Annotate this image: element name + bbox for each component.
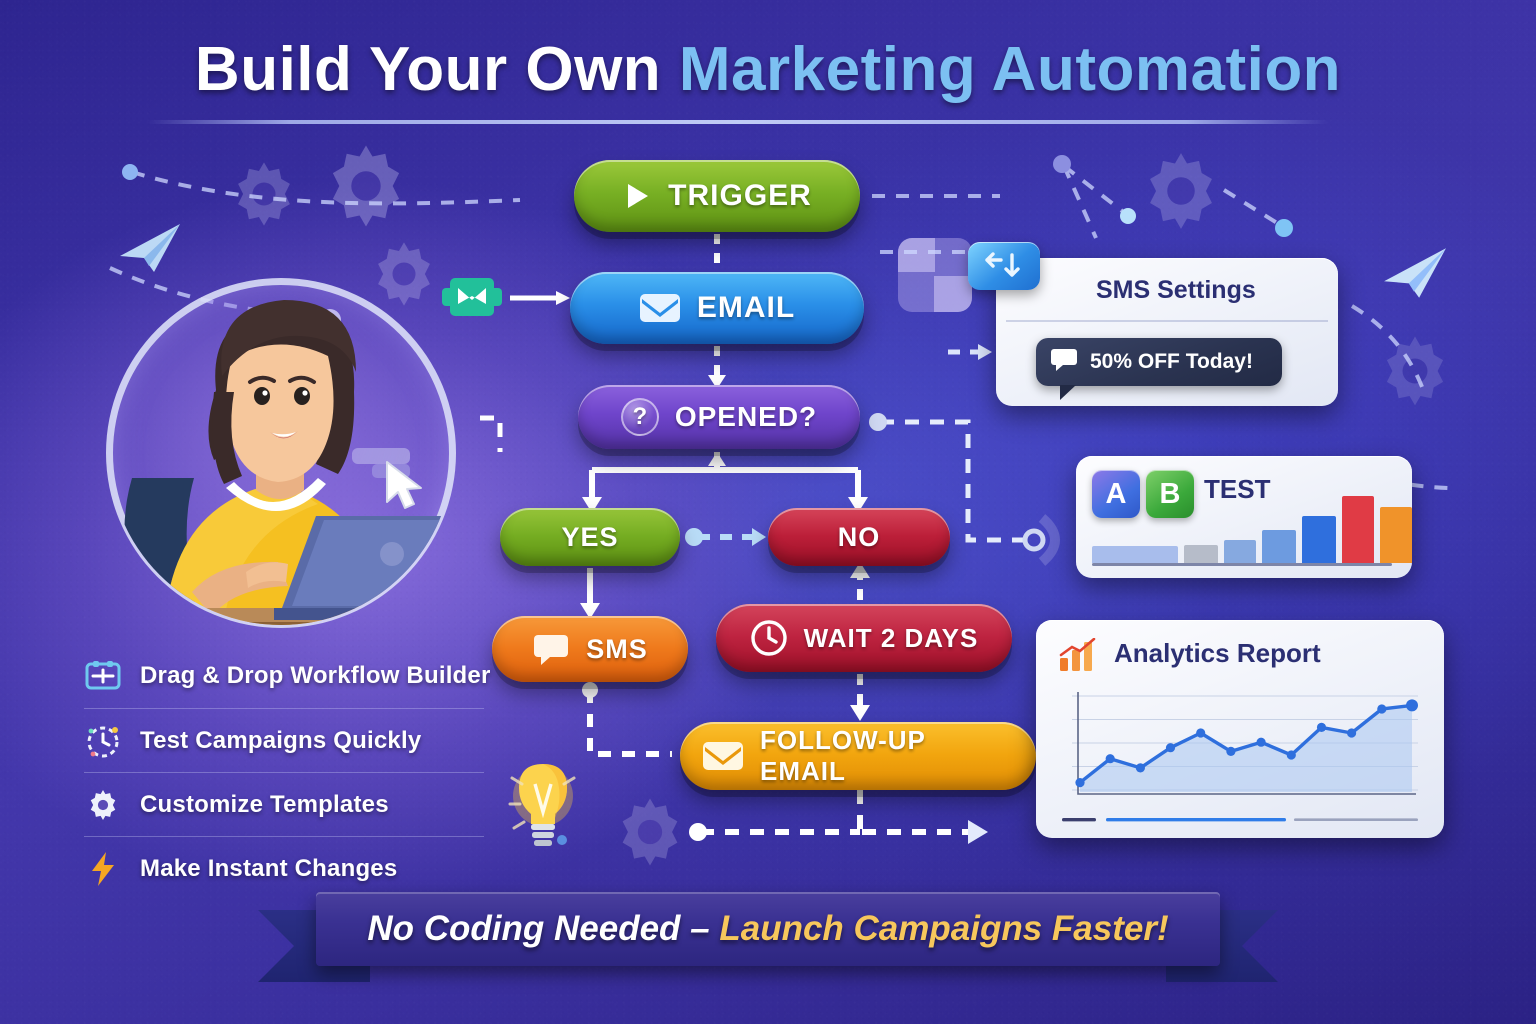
ab-test-bar-chart [1092,484,1392,566]
flow-node-email-label: EMAIL [697,291,795,325]
page-title-primary: Build Your Own [195,35,679,104]
analytics-report-card[interactable]: Analytics Report [1036,620,1444,838]
paper-plane-icon [1382,246,1448,305]
question-mark-icon: ? [621,398,659,436]
ab-test-bar [1380,507,1412,563]
ab-test-bar [1302,516,1336,563]
chart-data-point [1257,738,1266,747]
sms-settings-card[interactable]: SMS Settings 50% OFF Today! [996,258,1338,406]
title-divider [148,120,1328,124]
chart-data-point [1377,704,1386,713]
ab-test-bar [1092,546,1178,563]
chart-data-point [1347,728,1356,737]
decorative-square-shape [898,238,972,312]
gear-icon [1376,332,1454,410]
flow-node-wait[interactable]: WAIT 2 DAYS [716,604,1012,672]
chart-data-point [1196,728,1205,737]
sms-settings-title: SMS Settings [1096,276,1256,305]
flow-node-opened-label: OPENED? [675,401,817,433]
chart-data-point [1166,743,1175,752]
gear-icon [228,158,300,230]
bottom-banner: No Coding Needed – Launch Campaigns Fast… [258,892,1278,984]
paper-plane-icon [118,222,182,279]
ab-test-card[interactable]: A B TEST [1076,456,1412,578]
chart-data-point [1406,699,1418,711]
feature-item-label: Drag & Drop Workflow Builder [140,662,491,690]
flow-node-yes-label: YES [561,522,618,553]
flow-node-sms[interactable]: SMS [492,616,688,682]
chat-bubble-icon [1050,348,1078,377]
feature-list: Drag & Drop Workflow Builder Test Campai… [84,644,484,900]
envelope-icon [702,740,744,772]
analytics-progress-bar [1062,817,1418,822]
envelope-icon [639,292,681,324]
feature-item-label: Test Campaigns Quickly [140,727,421,755]
page-title-accent: Marketing Automation [679,35,1341,104]
gear-icon [320,140,412,232]
lightning-bolt-icon [84,850,122,888]
gear-icon [1138,148,1224,234]
flow-node-no[interactable]: NO [768,508,950,566]
gear-icon [612,794,688,870]
chart-baseline [1092,563,1392,566]
feature-item-instant-changes[interactable]: Make Instant Changes [84,836,484,900]
feature-item-label: Make Instant Changes [140,855,397,883]
chart-area-fill [1080,705,1412,792]
analytics-line-chart [1064,684,1422,802]
banner-body: No Coding Needed – Launch Campaigns Fast… [316,892,1220,966]
flow-node-email[interactable]: EMAIL [570,272,864,344]
chat-bubble-icon [532,633,570,665]
arrow-left-down-icon [968,242,1040,290]
flow-node-wait-label: WAIT 2 DAYS [804,623,979,654]
bar-chart-up-icon [1058,638,1098,672]
ab-test-bar [1262,530,1296,563]
ab-test-bar [1184,545,1218,563]
chart-data-point [1106,754,1115,763]
mouse-cursor-icon [383,460,427,516]
gear-icon [84,786,122,824]
flow-node-no-label: NO [838,522,881,553]
flow-node-yes[interactable]: YES [500,508,680,566]
feature-item-label: Customize Templates [140,791,389,819]
chart-data-point [1287,750,1296,759]
ab-test-bar [1224,540,1256,563]
lightbulb-icon [508,756,578,852]
board-icon [84,657,122,695]
flow-node-trigger[interactable]: TRIGGER [574,160,860,232]
flow-node-trigger-label: TRIGGER [668,179,812,213]
chart-data-point [1136,763,1145,772]
feature-item-customize-templates[interactable]: Customize Templates [84,772,484,836]
page-title: Build Your Own Marketing Automation [0,34,1536,105]
person-illustration [96,272,476,632]
feature-item-drag-drop[interactable]: Drag & Drop Workflow Builder [84,644,484,708]
flow-node-sms-label: SMS [586,634,648,665]
flow-node-opened[interactable]: ? OPENED? [578,385,860,449]
infographic-canvas: Build Your Own Marketing Automation [0,0,1536,1024]
analytics-report-title: Analytics Report [1114,638,1321,669]
ab-test-bar [1342,496,1374,563]
banner-text: No Coding Needed – Launch Campaigns Fast… [367,909,1168,949]
clock-icon [750,619,788,657]
woman-at-laptop-illustration [96,272,476,632]
flow-node-follow-up-email-label: FOLLOW-UP EMAIL [760,725,1014,787]
play-icon [622,181,652,211]
divider [1006,320,1328,322]
page-title-wrap: Build Your Own Marketing Automation [0,34,1536,105]
chart-data-point [1317,723,1326,732]
flow-node-follow-up-email[interactable]: FOLLOW-UP EMAIL [680,722,1036,790]
banner-text-accent: Launch Campaigns Faster! [719,909,1168,948]
chart-data-point [1226,747,1235,756]
banner-text-primary: No Coding Needed – [367,909,719,948]
sms-message-bubble: 50% OFF Today! [1036,338,1282,386]
sms-message-text: 50% OFF Today! [1090,350,1253,374]
feature-item-test-campaigns[interactable]: Test Campaigns Quickly [84,708,484,772]
chart-data-point [1075,778,1084,787]
stopwatch-icon [84,722,122,760]
